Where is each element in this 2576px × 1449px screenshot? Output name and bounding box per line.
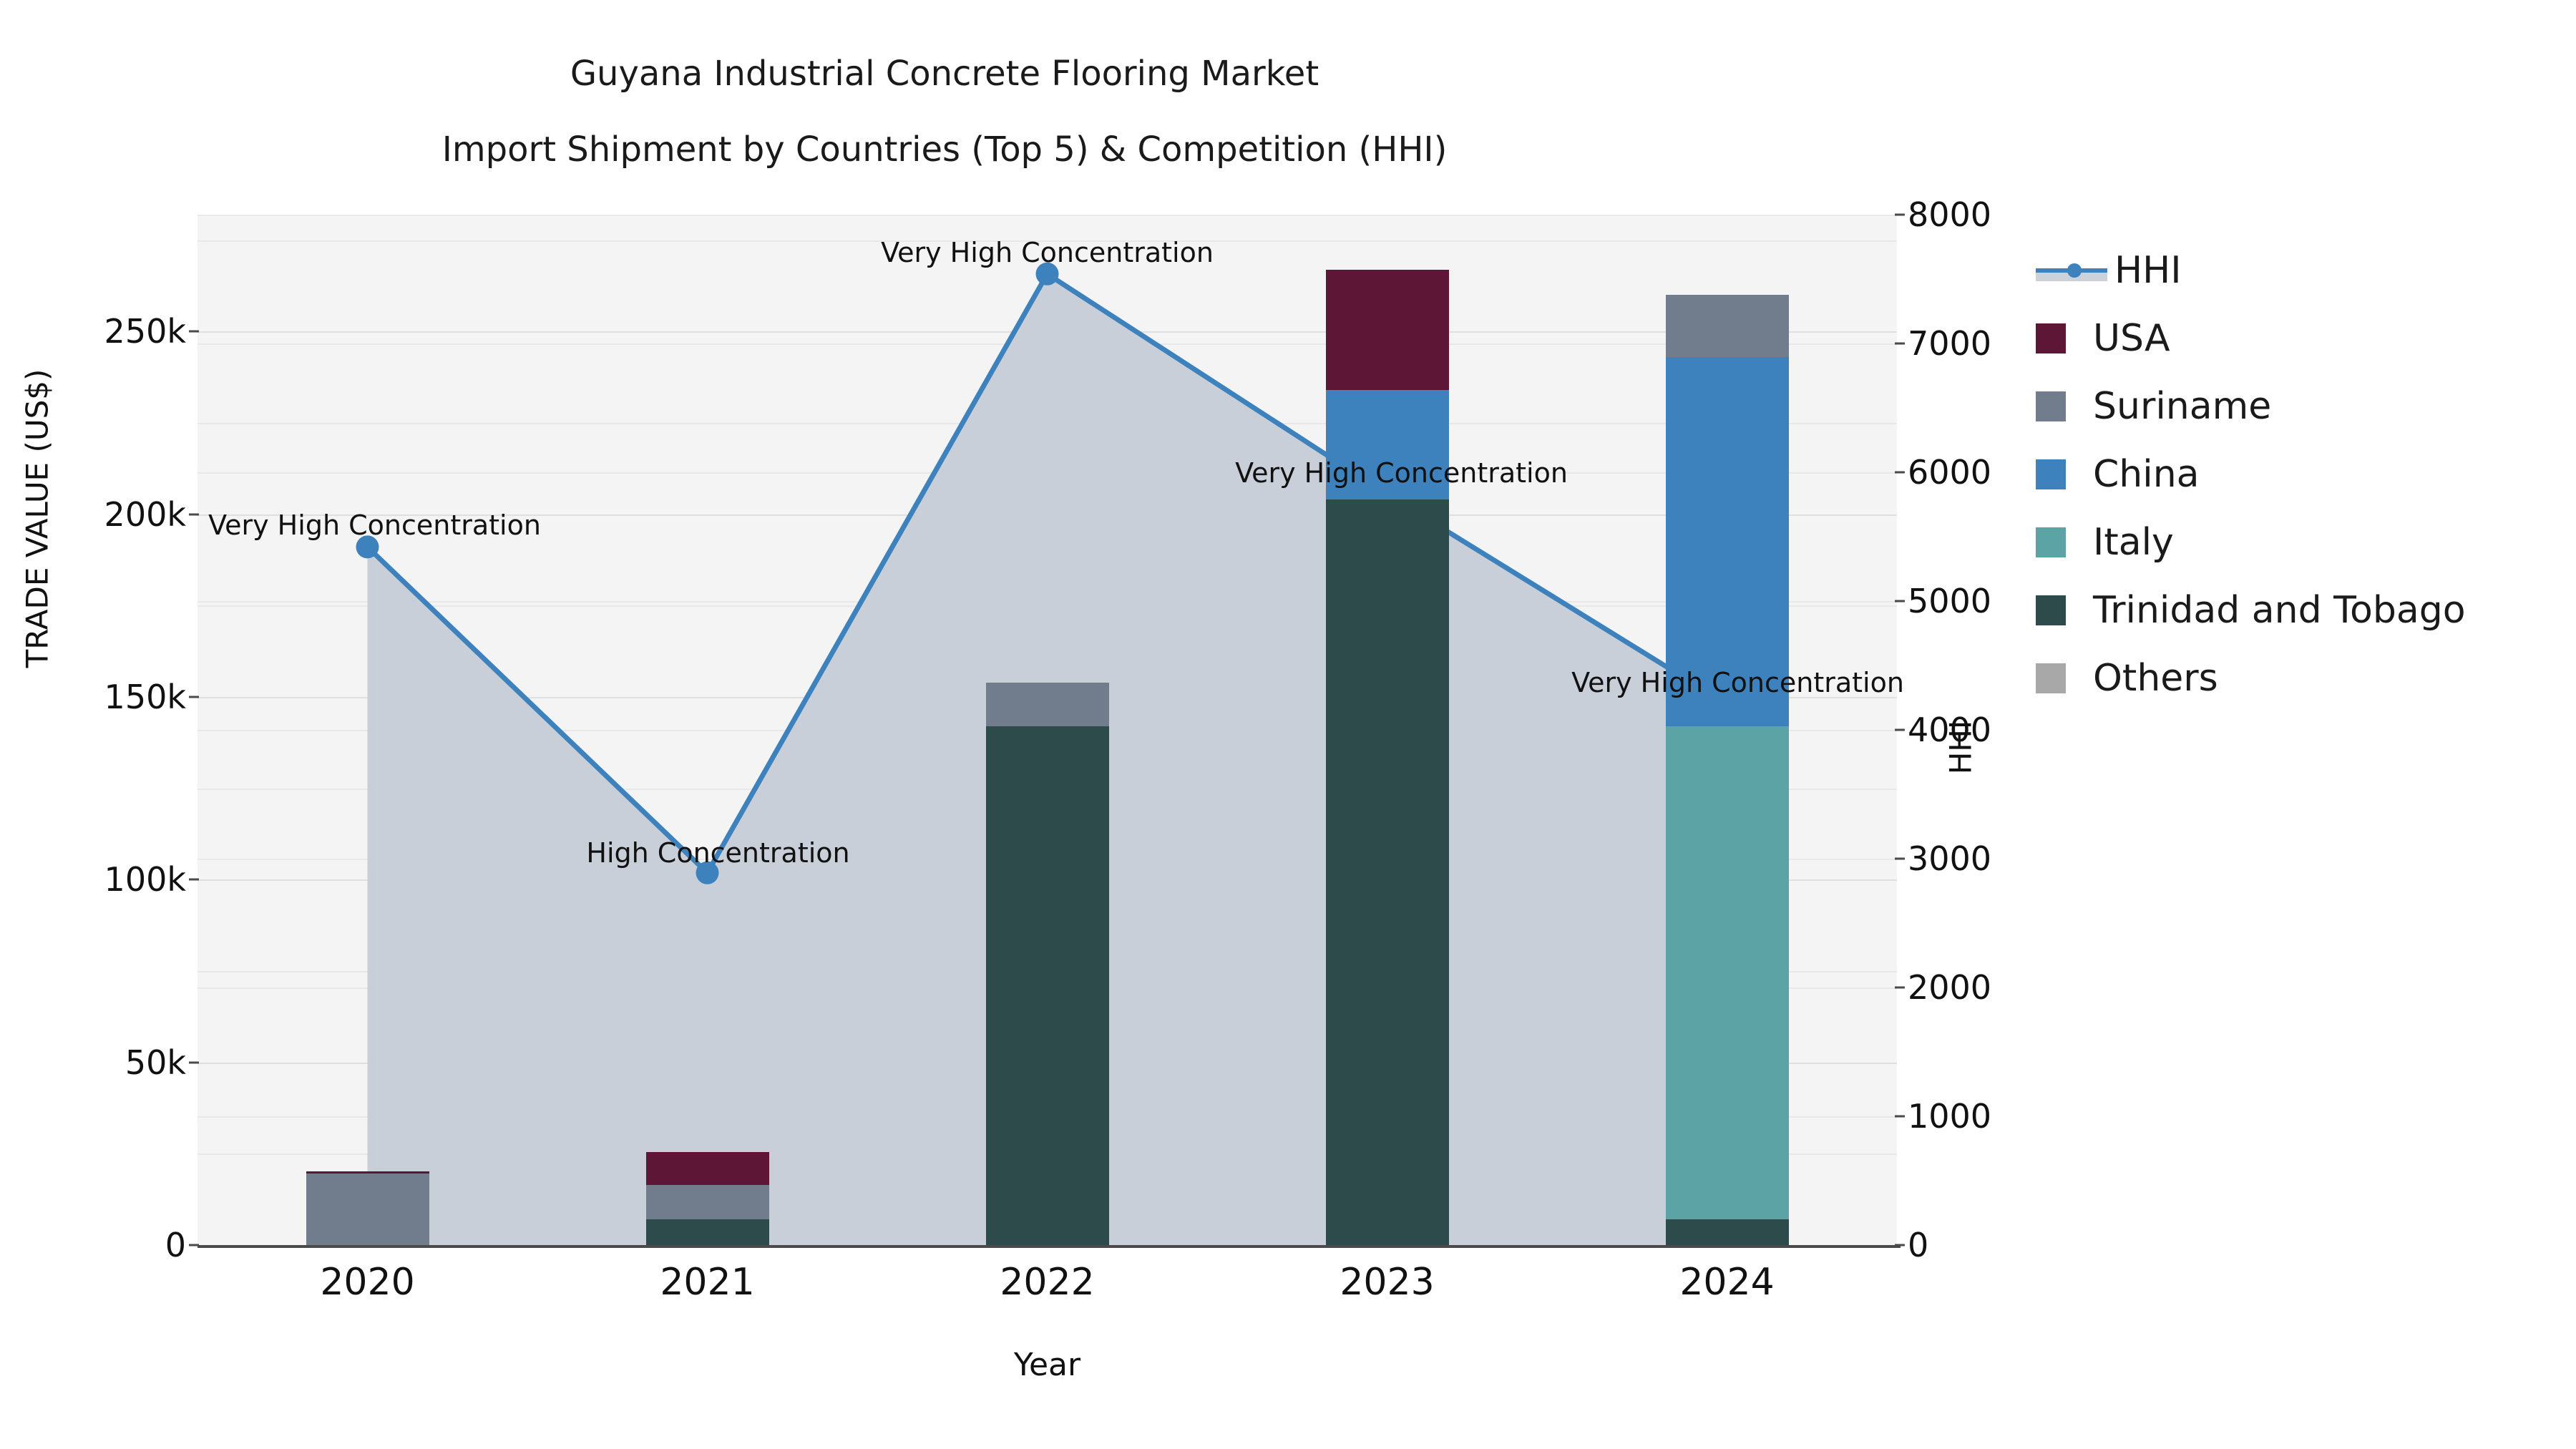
plot-area bbox=[197, 215, 1897, 1245]
bar-stack[interactable] bbox=[646, 215, 769, 1245]
legend-item-label: Others bbox=[2093, 660, 2218, 697]
y-axis-left-tick-mark bbox=[189, 696, 199, 698]
y-axis-right-tick-mark bbox=[1895, 214, 1905, 216]
legend-item-suriname[interactable]: Suriname bbox=[2036, 372, 2565, 440]
bar-stack[interactable] bbox=[306, 215, 429, 1245]
legend-item-label: Italy bbox=[2093, 524, 2174, 561]
legend-item-others[interactable]: Others bbox=[2036, 644, 2565, 712]
chart-subtitle: Import Shipment by Countries (Top 5) & C… bbox=[0, 127, 1889, 172]
y-axis-left-title: TRADE VALUE (US$) bbox=[20, 297, 55, 741]
bar-segment[interactable] bbox=[1666, 726, 1789, 1219]
legend-item-usa[interactable]: USA bbox=[2036, 304, 2565, 372]
bar-segment[interactable] bbox=[306, 1174, 429, 1245]
y-axis-right-tick-label: 5000 bbox=[1908, 582, 1991, 620]
y-axis-left-tick-mark bbox=[189, 1061, 199, 1063]
x-axis-tick-label: 2020 bbox=[320, 1261, 414, 1304]
bar-segment[interactable] bbox=[646, 1219, 769, 1245]
x-axis-tick-label: 2022 bbox=[1000, 1261, 1094, 1304]
y-axis-right: 010002000300040005000600070008000 bbox=[1903, 0, 2089, 1449]
x-axis-tick-label: 2021 bbox=[660, 1261, 754, 1304]
legend-item-label: USA bbox=[2093, 320, 2170, 357]
y-axis-right-tick-label: 1000 bbox=[1908, 1097, 1991, 1136]
legend-item-trinidad-and-tobago[interactable]: Trinidad and Tobago bbox=[2036, 576, 2565, 644]
bar-segment[interactable] bbox=[646, 1152, 769, 1185]
y-axis-left-tick-label: 50k bbox=[125, 1043, 186, 1082]
y-axis-left-tick-mark bbox=[189, 879, 199, 881]
bar-stack[interactable] bbox=[1326, 215, 1449, 1245]
legend-color-swatch bbox=[2036, 527, 2066, 557]
bar-segment[interactable] bbox=[306, 1171, 429, 1174]
concentration-annotation: Very High Concentration bbox=[881, 237, 1214, 268]
bar-segment[interactable] bbox=[646, 1185, 769, 1220]
y-axis-right-tick-label: 0 bbox=[1908, 1226, 1928, 1264]
x-axis-tick-label: 2023 bbox=[1340, 1261, 1434, 1304]
legend-item-label: Suriname bbox=[2093, 388, 2271, 425]
legend: HHIUSASurinameChinaItalyTrinidad and Tob… bbox=[2036, 236, 2565, 712]
y-axis-right-tick-mark bbox=[1895, 343, 1905, 345]
y-axis-right-tick-mark bbox=[1895, 1116, 1905, 1118]
bar-segment[interactable] bbox=[1666, 295, 1789, 357]
y-axis-left-tick-label: 150k bbox=[104, 678, 186, 716]
legend-item-label: China bbox=[2093, 456, 2200, 493]
y-axis-right-tick-label: 7000 bbox=[1908, 324, 1991, 363]
legend-line-dot bbox=[2067, 263, 2082, 278]
y-axis-right-tick-mark bbox=[1895, 987, 1905, 989]
y-axis-left-tick-label: 250k bbox=[104, 312, 186, 351]
bar-segment[interactable] bbox=[986, 726, 1109, 1245]
y-axis-right-tick-mark bbox=[1895, 729, 1905, 731]
legend-color-swatch bbox=[2036, 663, 2066, 693]
y-axis-right-tick-label: 6000 bbox=[1908, 453, 1991, 492]
y-axis-left-tick-label: 0 bbox=[165, 1226, 186, 1264]
legend-item-label: Trinidad and Tobago bbox=[2093, 592, 2466, 629]
legend-color-swatch bbox=[2036, 595, 2066, 625]
chart-title: Guyana Industrial Concrete Flooring Mark… bbox=[0, 52, 1889, 96]
y-axis-left-tick-label: 200k bbox=[104, 495, 186, 534]
y-axis-right-tick-label: 2000 bbox=[1908, 968, 1991, 1007]
y-axis-left-tick-mark bbox=[189, 1244, 199, 1246]
bar-segment[interactable] bbox=[1326, 499, 1449, 1245]
legend-item-hhi[interactable]: HHI bbox=[2036, 236, 2565, 304]
y-axis-left-tick-label: 100k bbox=[104, 860, 186, 899]
x-axis-title: Year bbox=[197, 1347, 1897, 1383]
y-axis-right-title: HHI bbox=[1943, 640, 1979, 855]
x-axis-tick-label: 2024 bbox=[1679, 1261, 1774, 1304]
bar-stack[interactable] bbox=[986, 215, 1109, 1245]
concentration-annotation: Very High Concentration bbox=[1571, 667, 1904, 698]
legend-line-icon bbox=[2036, 255, 2107, 286]
legend-color-swatch bbox=[2036, 459, 2066, 489]
x-axis-line bbox=[197, 1245, 1901, 1248]
y-axis-left-tick-mark bbox=[189, 331, 199, 333]
legend-color-swatch bbox=[2036, 323, 2066, 353]
concentration-annotation: High Concentration bbox=[586, 837, 849, 869]
bar-segment[interactable] bbox=[1326, 270, 1449, 391]
y-axis-left-tick-mark bbox=[189, 513, 199, 515]
bar-segment[interactable] bbox=[986, 683, 1109, 726]
legend-item-label: HHI bbox=[2114, 252, 2182, 289]
legend-item-italy[interactable]: Italy bbox=[2036, 508, 2565, 576]
bar-stack[interactable] bbox=[1666, 215, 1789, 1245]
y-axis-right-tick-mark bbox=[1895, 1244, 1905, 1246]
concentration-annotation: Very High Concentration bbox=[208, 509, 541, 541]
y-axis-right-tick-mark bbox=[1895, 472, 1905, 474]
legend-item-china[interactable]: China bbox=[2036, 440, 2565, 508]
y-axis-right-tick-mark bbox=[1895, 600, 1905, 602]
concentration-annotation: Very High Concentration bbox=[1235, 457, 1568, 489]
y-axis-right-tick-label: 8000 bbox=[1908, 195, 1991, 234]
legend-color-swatch bbox=[2036, 391, 2066, 421]
bar-segment[interactable] bbox=[1666, 1219, 1789, 1245]
y-axis-right-tick-mark bbox=[1895, 858, 1905, 860]
